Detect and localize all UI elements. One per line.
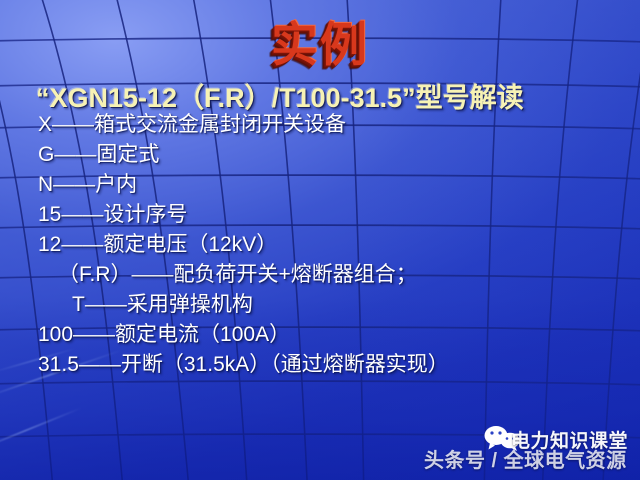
list-item: X——箱式交流金属封闭开关设备 bbox=[0, 110, 640, 140]
list-item: 100——额定电流（100A） bbox=[0, 320, 640, 350]
presentation-slide: 实例 “XGN15-12（F.R）/T100-31.5”型号解读 X——箱式交流… bbox=[0, 0, 640, 480]
list-item: 31.5——开断（31.5kA）（通过熔断器实现） bbox=[0, 350, 640, 380]
slide-title: 实例 bbox=[0, 6, 640, 75]
list-item: 12——额定电压（12kV） bbox=[0, 230, 640, 260]
list-item: N——户内 bbox=[0, 170, 640, 200]
list-item: 15——设计序号 bbox=[0, 200, 640, 230]
watermark-source: 头条号 / 全球电气资源 bbox=[424, 444, 627, 473]
list-item: G——固定式 bbox=[0, 140, 640, 170]
watermark: 电力知识课堂 头条号 / 全球电气资源 bbox=[420, 422, 636, 476]
model-code-breakdown-list: X——箱式交流金属封闭开关设备 G——固定式 N——户内 15——设计序号 12… bbox=[0, 110, 640, 380]
list-item: T——采用弹操机构 bbox=[0, 290, 640, 320]
list-item: （F.R）——配负荷开关+熔断器组合； bbox=[0, 260, 640, 290]
